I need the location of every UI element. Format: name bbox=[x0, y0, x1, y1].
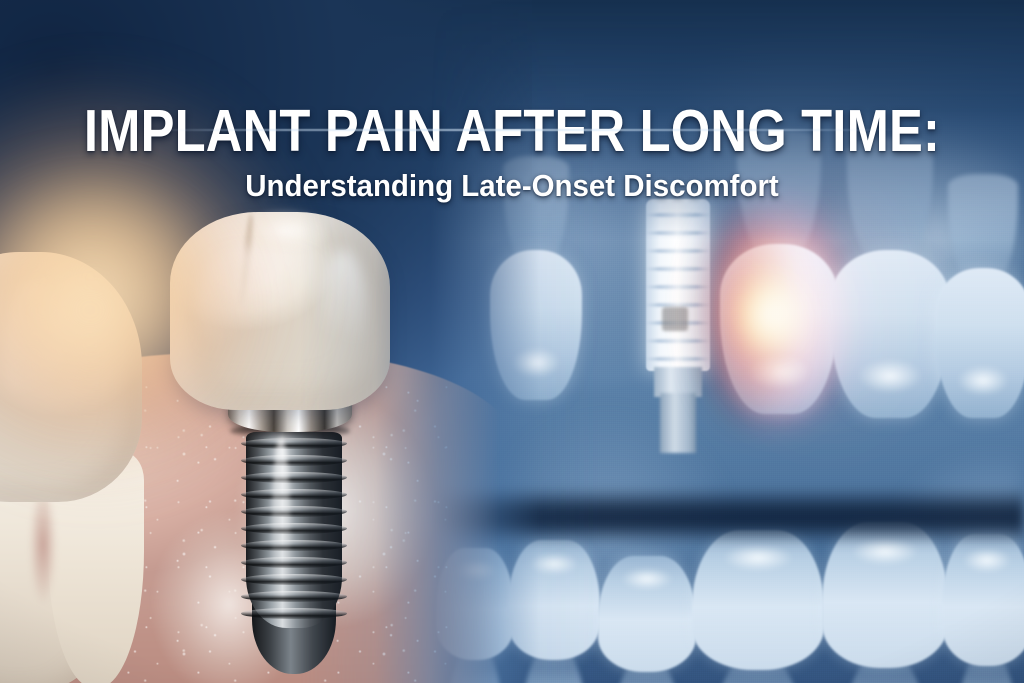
inflammation-hot-core bbox=[722, 268, 818, 364]
screw-thread-ring bbox=[241, 540, 347, 551]
xray-tooth-occlusal-highlight-lower bbox=[956, 545, 1017, 577]
screw-thread-ring bbox=[241, 506, 347, 517]
xray-tooth-occlusal-highlight bbox=[505, 343, 568, 382]
xray-tooth-occlusal-highlight-lower bbox=[713, 541, 803, 575]
xray-tooth-occlusal-highlight-lower bbox=[523, 550, 586, 579]
screw-thread-ring bbox=[241, 574, 347, 585]
screw-thread-ring bbox=[241, 608, 347, 619]
xray-tooth-occlusal-highlight bbox=[950, 361, 1015, 400]
title-divider bbox=[152, 129, 896, 131]
warm-glow-secondary bbox=[0, 180, 240, 440]
hero-banner: IMPLANT PAIN AFTER LONG TIME: Understand… bbox=[0, 0, 1024, 683]
page-subtitle: Understanding Late-Onset Discomfort bbox=[26, 167, 999, 205]
xray-interarch-gap bbox=[430, 487, 1024, 545]
xray-tooth-occlusal-highlight-lower bbox=[614, 565, 681, 593]
screw-thread-ring bbox=[241, 557, 347, 568]
screw-thread-ring bbox=[241, 489, 347, 500]
screw-thread-ring bbox=[241, 523, 347, 534]
screw-thread-ring bbox=[241, 591, 347, 602]
implant-crown-rim-light bbox=[320, 250, 366, 370]
